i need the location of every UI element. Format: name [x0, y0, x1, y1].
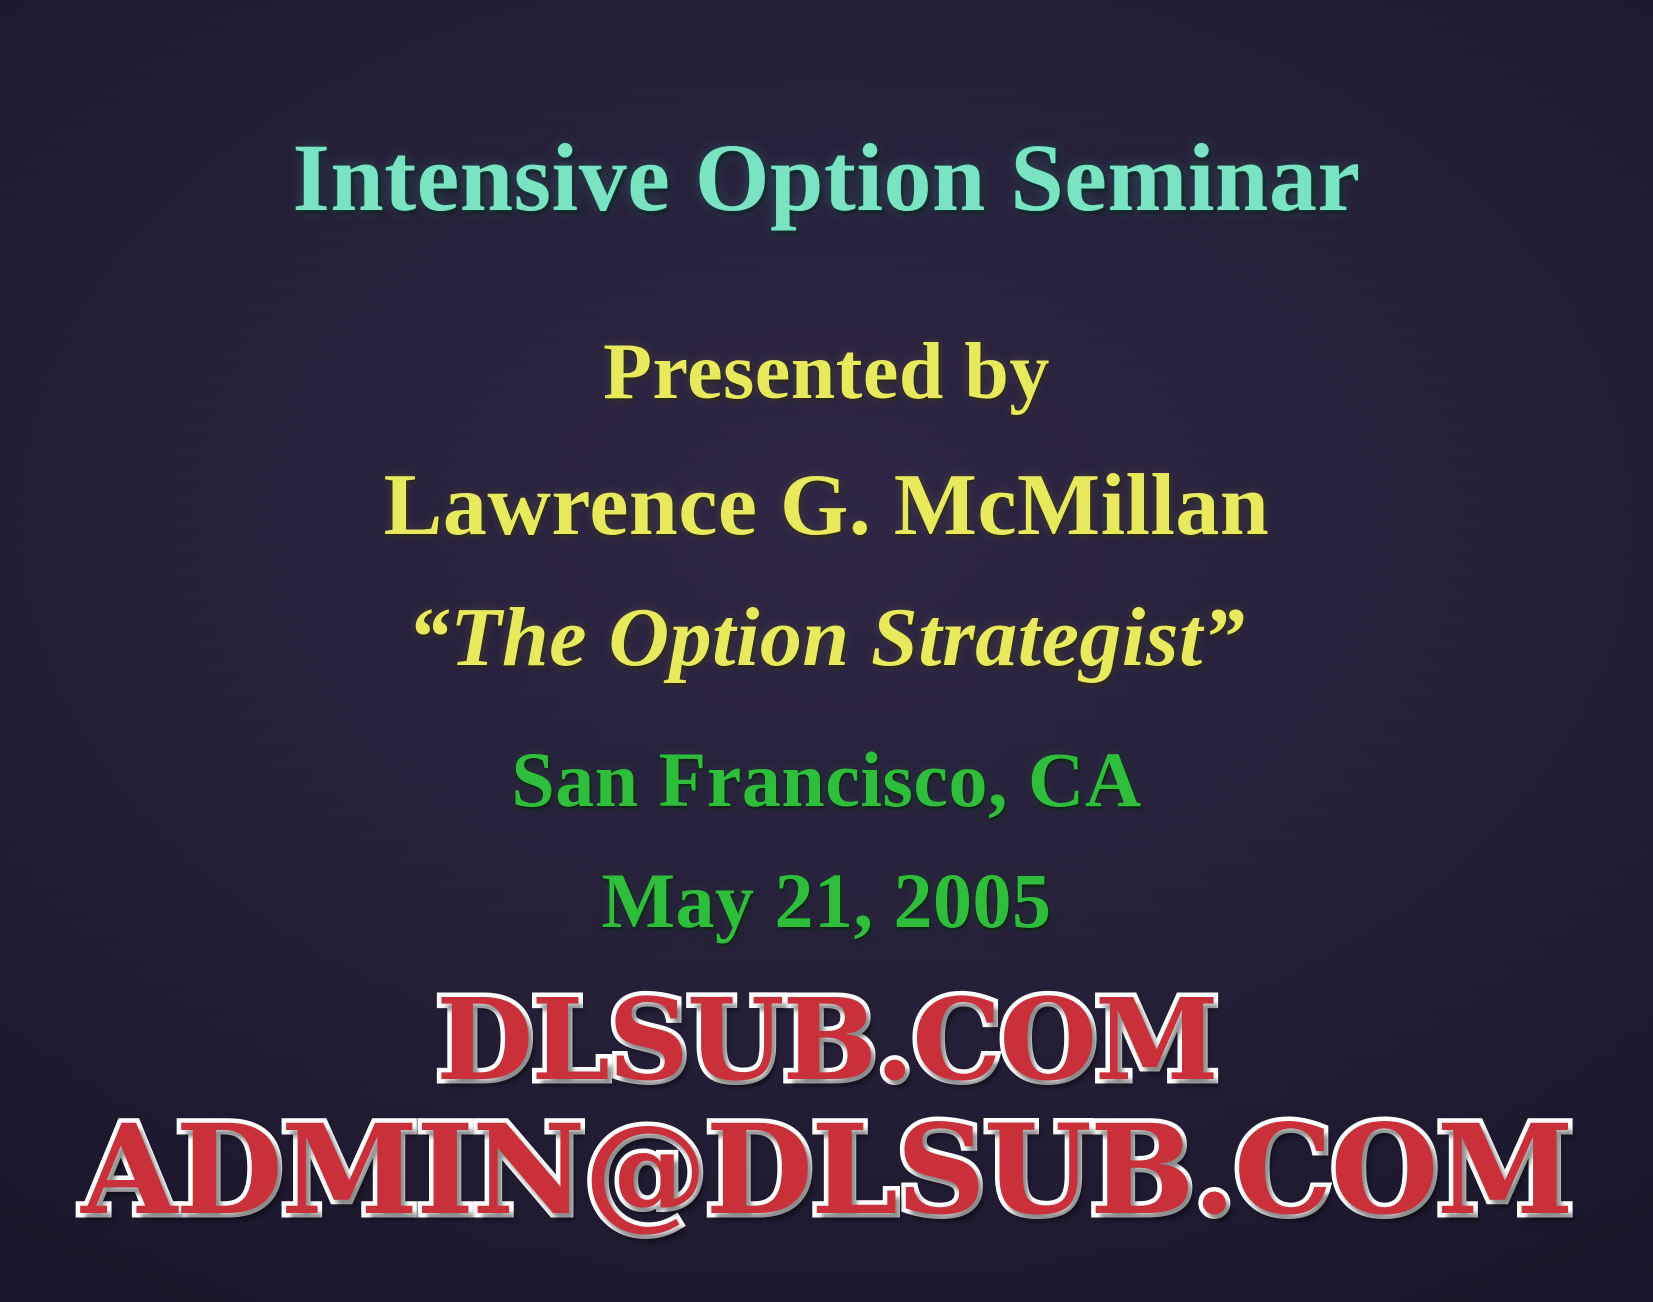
watermark-site-text: DLSUB.COM	[0, 975, 1653, 1106]
event-location: San Francisco, CA	[0, 735, 1653, 825]
presented-by-label: Presented by	[0, 327, 1653, 418]
presenter-tagline: “The Option Strategist”	[0, 589, 1653, 686]
watermark-email-text: ADMIN@DLSUB.COM	[0, 1098, 1653, 1243]
title-slide: Intensive Option Seminar Presented by La…	[0, 0, 1653, 1302]
event-date: May 21, 2005	[0, 856, 1653, 946]
page-title: Intensive Option Seminar	[0, 130, 1653, 226]
presenter-name: Lawrence G. McMillan	[0, 455, 1653, 556]
